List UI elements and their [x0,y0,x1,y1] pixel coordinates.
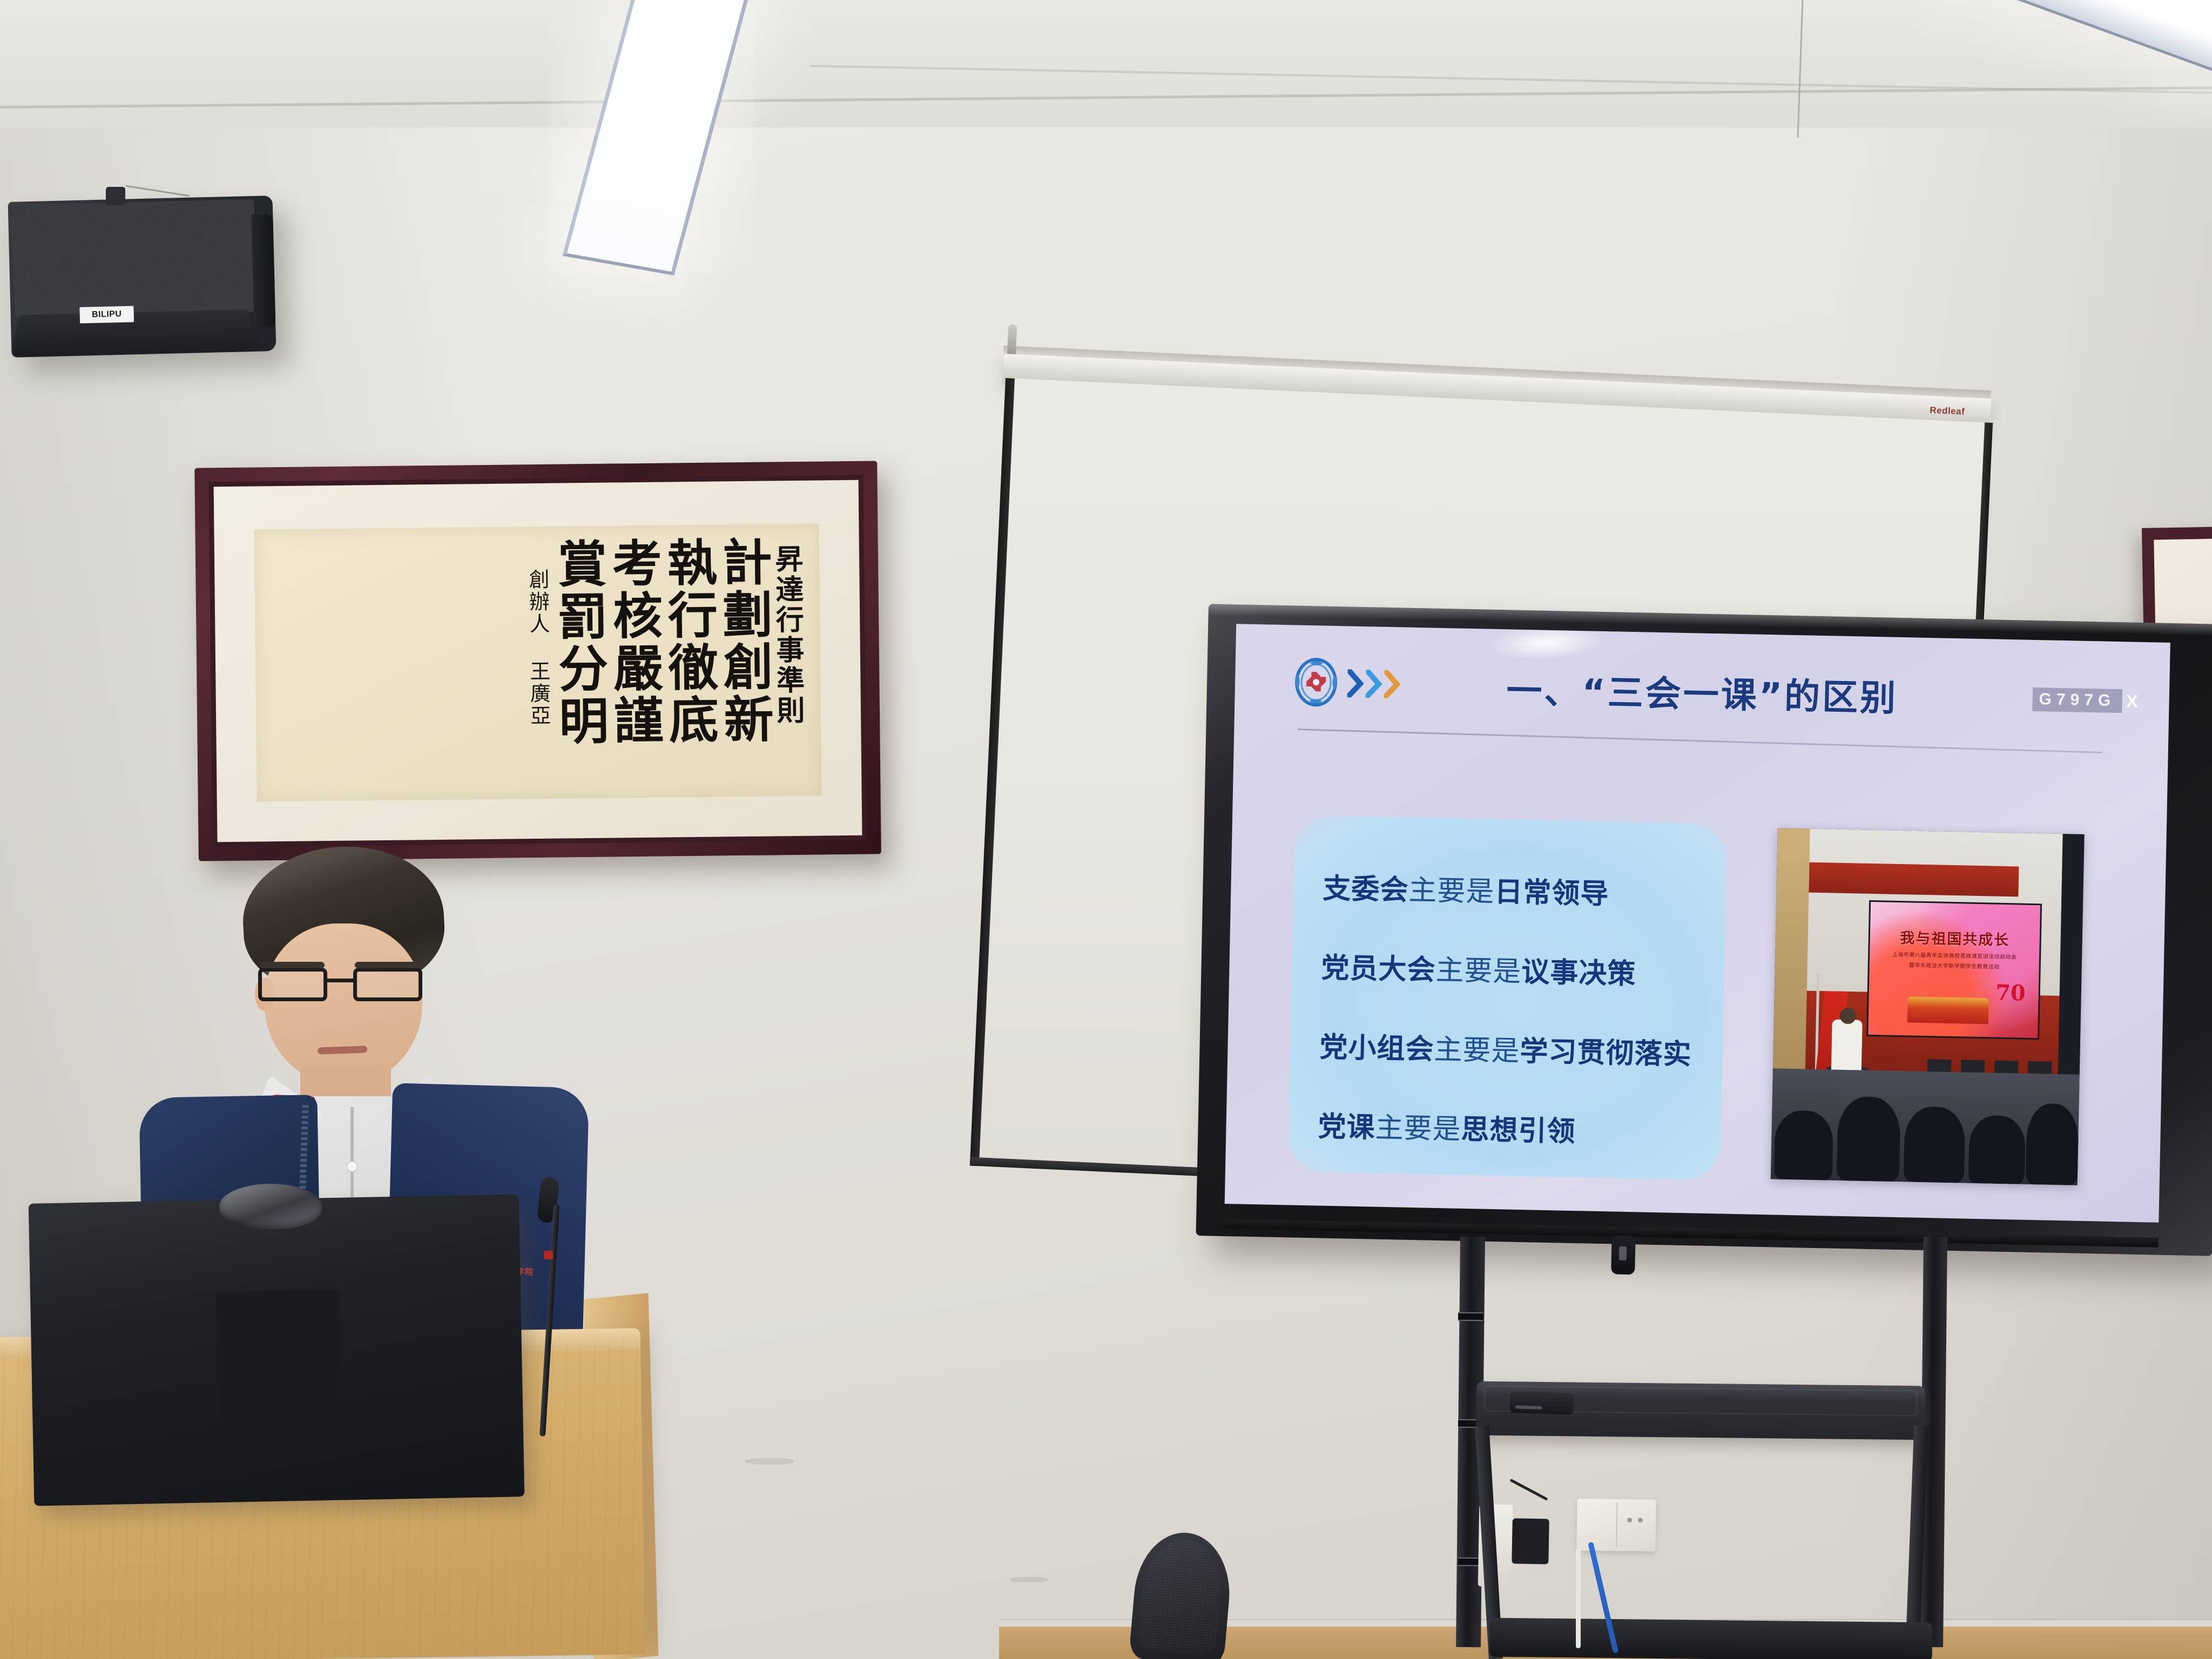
slide-bullet-1: 支委会主要是日常领导 [1323,866,1726,914]
calligraphy-picture-frame: 昇達行事準則 計劃創新 執行徹底 考核嚴謹 賞罰分明 創辦人 王廣亞 [194,461,881,861]
classroom-presentation-scene: BILIPU 昇達行事準則 計劃創新 執行徹底 考核嚴謹 賞罰分明 創辦人 王廣… [0,0,2212,1659]
television-display[interactable]: 一、“三会一课”的区别 G797G X 支委会主要是日常领导 党员大会主要是议事… [1196,604,2212,1256]
bullet-1-connector: 主要是 [1408,874,1495,908]
remote-buttons [1515,1405,1542,1410]
speaker-side-panel [251,214,275,328]
speaker-grille [12,199,257,318]
photo-banner-line1: 上海市第八届青年走进高校思政课宣讲活动启动会 [1892,952,2017,961]
slide-bullet-2: 党员大会主要是议事决策 [1321,945,1724,994]
ceiling [0,0,2212,135]
photo-audience-head [1968,1115,2026,1184]
frame-mat: 昇達行事準則 計劃創新 執行徹底 考核嚴謹 賞罰分明 創辦人 王廣亞 [214,480,862,842]
slide-photo-auditorium: 我与祖国共成长 上海市第八届青年走进高校思政课宣讲活动启动会 暨华东政法大学新学… [1771,828,2085,1185]
calligraphy-columns: 昇達行事準則 計劃創新 執行徹底 考核嚴謹 賞罰分明 創辦人 王廣亞 [254,524,821,802]
bullet-2-connector: 主要是 [1435,954,1522,988]
presenter-eyebrow-right [355,962,420,968]
bullet-3-subject: 党小组会 [1319,1031,1434,1066]
glasses-lens-right [353,968,422,1001]
photo-anniversary-number: 70 [1995,980,2026,1006]
photo-audience-head [2026,1103,2079,1185]
slide-bullet-4: 党课主要是思想引领 [1318,1104,1721,1152]
photo-audience-head [1774,1110,1834,1180]
tv-remote-control[interactable] [1509,1391,1574,1415]
bullet-3-connector: 主要是 [1434,1034,1520,1068]
bullet-2-predicate: 议事决策 [1521,956,1636,990]
bullet-4-subject: 党课 [1318,1110,1375,1144]
presentation-slide: 一、“三会一课”的区别 G797G X 支委会主要是日常领导 党员大会主要是议事… [1225,624,2170,1223]
cart-base [1489,1618,1933,1659]
calligraphy-signature: 創辦人 王廣亞 [525,538,549,727]
glasses-lens-left [258,968,327,1001]
wall-scuff-mark [1010,1577,1048,1582]
power-adapter-black [1512,1518,1549,1564]
photo-landmark-graphic [1907,996,1989,1024]
microphone-indicator-ring [544,1251,553,1259]
screen-pull-knob[interactable] [1007,324,1017,358]
photo-audience-head [1904,1106,1966,1183]
photo-led-banner: 我与祖国共成长 上海市第八届青年走进高校思政课宣讲活动启动会 暨华东政法大学新学… [1866,900,2042,1040]
watermark-suffix: X [2126,691,2138,711]
wall-speaker: BILIPU [8,195,276,358]
outlet-divider [1616,1502,1618,1548]
calligraphy-line-3: 考核嚴謹 [607,537,660,747]
presenter-face [265,923,422,1085]
bullet-1-subject: 支委会 [1323,873,1409,907]
slide-title: 一、“三会一课”的区别 [1235,656,2170,727]
desktop-monitor[interactable] [29,1194,525,1506]
pole-clamp [1458,1312,1483,1321]
photo-banner-subtitle: 上海市第八届青年走进高校思政课宣讲活动启动会 暨华东政法大学新学期学生教育活动 [1870,949,2040,973]
bullet-1-predicate: 日常领导 [1494,876,1609,911]
bullet-2-subject: 党员大会 [1321,952,1436,987]
photo-banner-title: 我与祖国共成长 [1870,926,2040,950]
photo-banner-line2: 暨华东政法大学新学期学生教育活动 [1909,962,2000,970]
glasses-bridge [327,979,353,982]
frame-inner-lip: 昇達行事準則 計劃創新 執行徹底 考核嚴謹 賞罰分明 創辦人 王廣亞 [208,475,867,847]
screen-brand-label: Redleaf [1930,405,1965,417]
slide-body: 支委会主要是日常领导 党员大会主要是议事决策 党小组会主要是学习贯彻落实 党课主… [1225,814,2167,1211]
glasses-icon [258,968,430,1003]
white-cable [1576,1548,1581,1648]
monitor-back-plate [216,1290,342,1444]
speaker-brand-badge: BILIPU [79,306,134,323]
calligraphy-line-4: 賞罰分明 [552,538,605,748]
monitor-stand-hinge [219,1184,322,1229]
bullet-3-predicate: 学习贯彻落实 [1520,1035,1692,1071]
chair-mesh-back [1138,1536,1225,1656]
calligraphy-line-1: 計劃創新 [717,536,770,746]
bullet-4-predicate: 思想引领 [1461,1114,1576,1148]
shirt-button [347,1161,358,1172]
outlet-socket-hole [1638,1518,1643,1522]
slide-content-box: 支委会主要是日常领导 党员大会主要是议事决策 党小组会主要是学习贯彻落实 党课主… [1288,815,1727,1181]
ir-sensor-icon [1611,1235,1635,1274]
bullet-4-connector: 主要是 [1375,1112,1461,1146]
speaker-bottom-face [10,309,260,358]
calligraphy-paper: 昇達行事準則 計劃創新 執行徹底 考核嚴謹 賞罰分明 創辦人 王廣亞 [254,524,821,802]
photo-audience-head [1837,1096,1901,1182]
presenter-eyebrow-left [260,962,325,968]
photo-red-valance [1809,862,2019,897]
watermark-code: G797G [2032,687,2122,713]
slide-bullet-3: 党小组会主要是学习贯彻落实 [1319,1024,1723,1073]
calligraphy-line-2: 執行徹底 [662,537,715,747]
speaker-mount-bracket [106,187,125,205]
sensor-led [1619,1246,1627,1260]
calligraphy-heading: 昇達行事準則 [772,536,803,726]
outlet-socket-hole [1627,1518,1632,1522]
wall-scuff-mark [745,1458,794,1465]
slide-watermark: G797G X [2032,687,2138,713]
